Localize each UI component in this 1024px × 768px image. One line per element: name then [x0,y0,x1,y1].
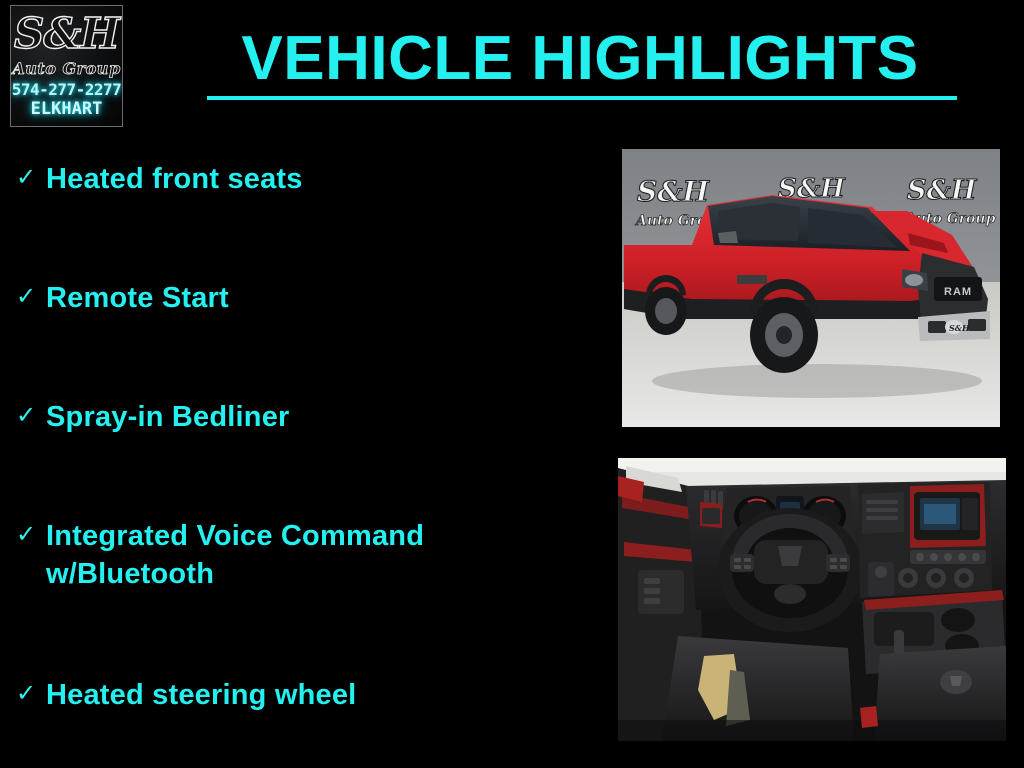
logo-subtitle: Auto Group [11,60,122,78]
exterior-photo: S&H Auto Gro S&H S&H Auto Group RAM [622,149,1000,427]
check-icon: ✓ [16,164,46,190]
interior-photo [618,458,1006,741]
list-item-label: Spray-in Bedliner [46,398,600,436]
list-item: ✓ Integrated Voice Command w/Bluetooth [0,517,600,593]
check-icon: ✓ [16,680,46,706]
presentation-slide: S&H Auto Group 574-277-2277 ELKHART VEHI… [0,0,1024,768]
dealer-logo: S&H Auto Group 574-277-2277 ELKHART [10,5,123,127]
logo-city: ELKHART [11,99,122,119]
svg-text:S&H: S&H [949,323,970,333]
check-icon: ✓ [16,283,46,309]
list-item-label: Remote Start [46,279,600,317]
logo-phone-number: 574-277-2277 [11,80,122,100]
check-icon: ✓ [16,402,46,428]
svg-text:S&H: S&H [637,175,711,208]
title-underline [207,96,957,100]
logo-brand-name: S&H [11,12,122,56]
list-item: ✓ Remote Start [0,279,600,317]
check-icon: ✓ [16,521,46,547]
svg-text:RAM: RAM [944,286,972,298]
exterior-photo-graphic: S&H Auto Gro S&H S&H Auto Group RAM [622,149,1000,427]
list-item: ✓ Heated steering wheel [0,676,600,714]
interior-photo-graphic [618,458,1006,741]
svg-text:S&H: S&H [907,175,978,206]
list-item-label: Heated steering wheel [46,676,600,714]
list-item: ✓ Spray-in Bedliner [0,398,600,436]
title-block: VEHICLE HIGHLIGHTS [150,24,1010,110]
list-item-label: Heated front seats [46,160,600,198]
list-item-label: Integrated Voice Command w/Bluetooth [46,517,600,593]
list-item: ✓ Heated front seats [0,160,600,198]
page-title: VEHICLE HIGHLIGHTS [150,24,1010,94]
svg-text:Auto Gro: Auto Gro [634,213,706,229]
